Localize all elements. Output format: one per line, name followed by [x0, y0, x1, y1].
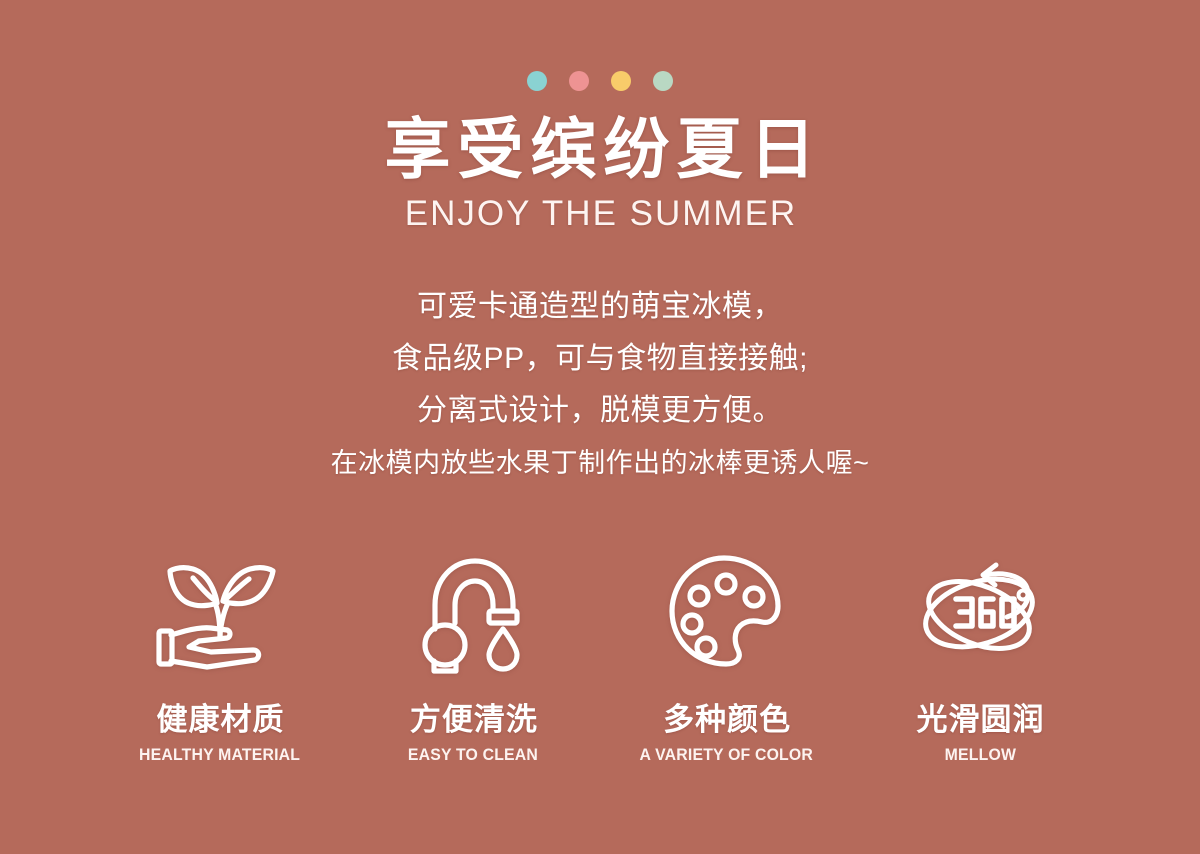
feature-item-variety-of-color: 多种颜色 A VARIETY OF COLOR — [602, 549, 852, 764]
rotate-360-icon — [915, 549, 1045, 674]
description-line-2: 食品级PP，可与食物直接接触; — [0, 333, 1200, 385]
dot-pink-icon — [569, 71, 589, 91]
feature-title: 多种颜色 — [662, 702, 791, 738]
headline-block: 享受缤纷夏日 ENJOY THE SUMMER — [0, 113, 1200, 235]
feature-title: 健康材质 — [156, 702, 285, 738]
feature-subtitle: EASY TO CLEAN — [408, 745, 538, 765]
decorative-dot-row — [527, 71, 673, 91]
description-block: 可爱卡通造型的萌宝冰模， 食品级PP，可与食物直接接触; 分离式设计，脱模更方便… — [0, 281, 1200, 489]
feature-item-mellow: 光滑圆润 MELLOW — [855, 549, 1105, 764]
description-line-1: 可爱卡通造型的萌宝冰模， — [0, 281, 1200, 333]
headline-chinese: 享受缤纷夏日 — [0, 113, 1200, 187]
description-line-3: 分离式设计，脱模更方便。 — [0, 385, 1200, 437]
paint-palette-icon — [662, 549, 792, 674]
feature-subtitle: MELLOW — [944, 745, 1015, 765]
feature-title: 光滑圆润 — [915, 702, 1044, 738]
feature-subtitle: A VARIETY OF COLOR — [640, 745, 813, 765]
feature-title: 方便清洗 — [409, 702, 538, 738]
headline-english: ENJOY THE SUMMER — [0, 193, 1200, 235]
dot-mint-icon — [653, 71, 673, 91]
feature-item-easy-to-clean: 方便清洗 EASY TO CLEAN — [348, 549, 598, 764]
description-line-4: 在冰模内放些水果丁制作出的冰棒更诱人喔~ — [0, 437, 1200, 489]
hand-plant-icon — [155, 549, 285, 674]
dot-teal-icon — [527, 71, 547, 91]
faucet-droplet-icon — [408, 549, 538, 674]
dot-yellow-icon — [611, 71, 631, 91]
feature-row: 健康材质 HEALTHY MATERIAL — [95, 549, 1105, 764]
feature-item-healthy-material: 健康材质 HEALTHY MATERIAL — [95, 549, 345, 764]
feature-subtitle: HEALTHY MATERIAL — [139, 745, 300, 765]
promo-banner: 享受缤纷夏日 ENJOY THE SUMMER 可爱卡通造型的萌宝冰模， 食品级… — [0, 0, 1200, 854]
